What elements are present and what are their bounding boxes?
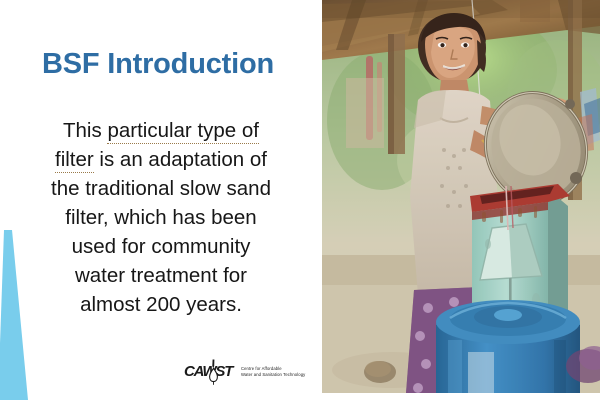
spellcheck-underline-particular-type-of: particular type of [107,119,259,144]
body-line-3: the traditional slow sand [16,174,306,203]
body-line-1: This particular type of [16,116,306,145]
slide-photograph [322,0,600,393]
body-paragraph: This particular type of filter is an ada… [16,116,306,319]
body-line-6: water treatment for [16,261,306,290]
cawst-logo: CAWST Centre for Affordable Water and Sa… [184,357,308,387]
cawst-tagline: Centre for Affordable Water and Sanitati… [241,366,305,377]
slide-canvas: BSF Introduction This particular type of… [0,0,600,400]
body-line-2: filter is an adaptation of [16,145,306,174]
body-line-4: filter, which has been [16,203,306,232]
page-title-text: BSF Introduction [42,48,280,81]
text-panel: BSF Introduction This particular type of… [0,0,322,400]
body-line-7: almost 200 years. [16,290,306,319]
body-line-5: used for community [16,232,306,261]
page-title: BSF Introduction [0,48,322,81]
spellcheck-underline-filter: filter [55,148,94,173]
cawst-logo-mark: CAWST [184,360,236,384]
cawst-tagline-line-2: Water and Sanitation Technology [241,372,305,378]
photo-illustration [322,0,600,393]
water-drop-icon [208,359,219,385]
